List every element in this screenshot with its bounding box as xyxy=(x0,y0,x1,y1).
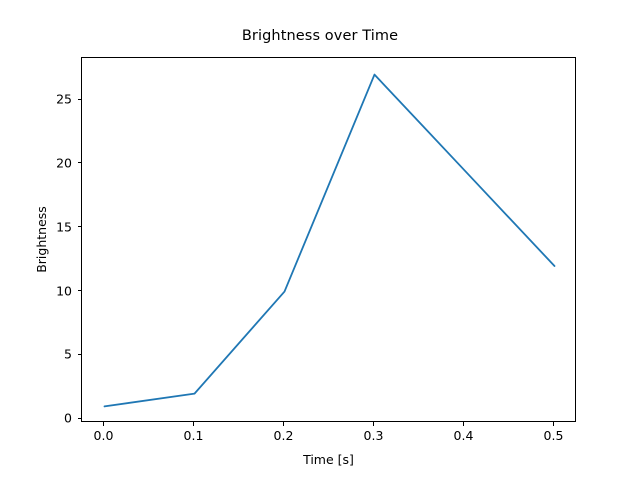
line-plot-svg xyxy=(82,58,577,423)
y-tick-mark xyxy=(78,354,82,355)
y-tick-mark xyxy=(78,418,82,419)
x-tick-mark xyxy=(373,422,374,426)
x-tick-mark xyxy=(193,422,194,426)
y-tick-mark xyxy=(78,162,82,163)
x-tick-mark xyxy=(103,422,104,426)
data-series-brightness xyxy=(105,75,555,407)
x-tick-label: 0.1 xyxy=(184,428,204,443)
x-tick-label: 0.5 xyxy=(544,428,564,443)
x-tick-mark xyxy=(553,422,554,426)
y-tick-mark xyxy=(78,226,82,227)
y-tick-mark xyxy=(78,290,82,291)
x-tick-mark xyxy=(463,422,464,426)
x-axis-label: Time [s] xyxy=(81,452,576,467)
x-tick-mark xyxy=(283,422,284,426)
y-axis-label: Brightness xyxy=(34,57,49,422)
x-tick-label: 0.0 xyxy=(94,428,114,443)
figure-canvas: Brightness over Time 0.00.10.20.30.40.5 … xyxy=(0,0,640,480)
y-tick-mark xyxy=(78,99,82,100)
x-tick-label: 0.2 xyxy=(274,428,294,443)
x-tick-label: 0.3 xyxy=(364,428,384,443)
x-tick-label: 0.4 xyxy=(454,428,474,443)
chart-title: Brightness over Time xyxy=(0,28,640,44)
plot-axes-area xyxy=(81,57,576,422)
